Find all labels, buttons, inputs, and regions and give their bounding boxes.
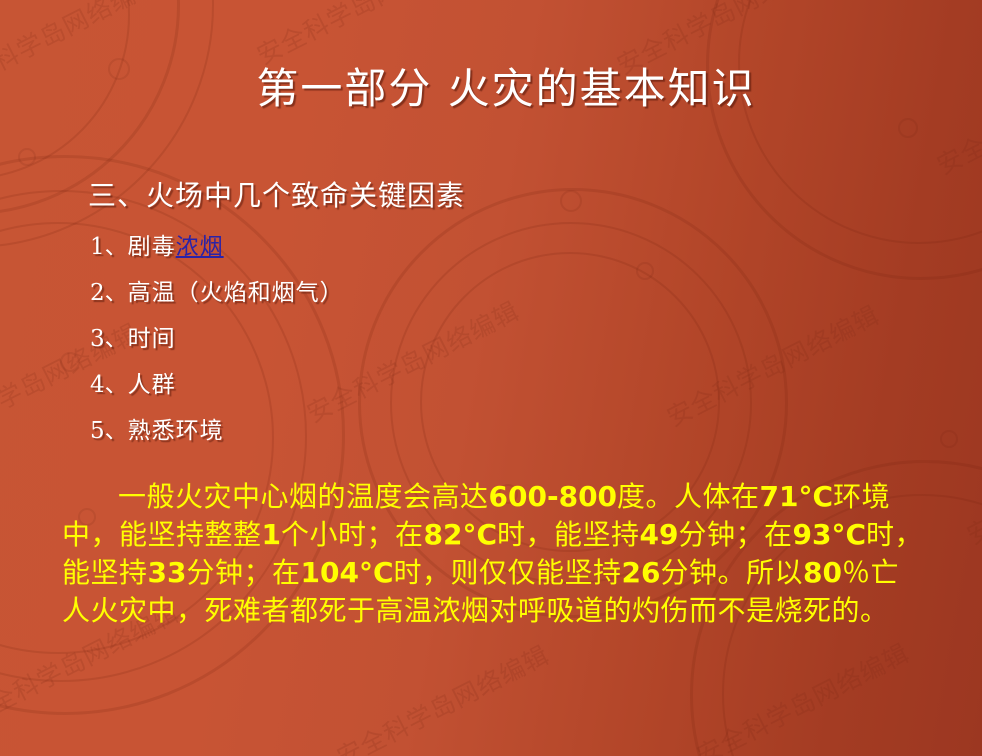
list-item: 2、高温（火焰和烟气） — [90, 270, 344, 316]
watermark-text: 安全科学岛网络编辑 — [330, 636, 555, 756]
list-item-number: 1、 — [90, 234, 128, 260]
list-item-number: 3、 — [90, 326, 128, 352]
list-item: 4、人群 — [90, 362, 344, 408]
body-paragraph: 一般火灾中心烟的温度会高达600-800度。人体在71°C环境中，能坚持整整1个… — [62, 478, 924, 630]
temperature-value: 600-800 — [489, 480, 618, 513]
slide-canvas: 安全科学岛网络编辑 安全科学岛网络编辑 安全科学岛网络编辑 安全科学岛网络编辑 … — [0, 0, 982, 756]
list-item-label: 剧毒 — [128, 234, 176, 260]
body-segment: 时，能坚持 — [497, 518, 640, 551]
section-heading: 三、火场中几个致命关键因素 — [88, 174, 465, 214]
watermark-text: 安全科学岛网络编辑 — [960, 414, 982, 552]
body-segment: 个小时；在 — [281, 518, 424, 551]
body-segment: 一般火灾中心烟的温度会高达 — [118, 480, 489, 513]
ring-arc-icon — [738, 0, 982, 244]
list-item: 5、熟悉环境 — [90, 408, 344, 454]
temperature-value: 71°C — [760, 480, 834, 513]
factor-list: 1、剧毒浓烟 2、高温（火焰和烟气） 3、时间 4、人群 5、熟悉环境 — [90, 224, 344, 454]
circle-dot-icon — [940, 430, 958, 448]
duration-value: 33 — [148, 556, 187, 589]
list-item-number: 4、 — [90, 372, 128, 398]
circle-dot-icon — [560, 190, 582, 212]
circle-dot-icon — [898, 118, 918, 138]
list-item: 1、剧毒浓烟 — [90, 224, 344, 270]
percentage-value: 80 — [803, 556, 842, 589]
list-item-label: 人群 — [128, 372, 176, 398]
duration-value: 1 — [262, 518, 281, 551]
temperature-value: 104°C — [301, 556, 394, 589]
list-item-label: 时间 — [128, 326, 176, 352]
circle-dot-icon — [636, 262, 654, 280]
ring-arc-icon — [706, 0, 982, 280]
list-item-number: 2、 — [90, 280, 128, 306]
body-segment: 分钟。所以 — [660, 556, 803, 589]
temperature-value: 82°C — [424, 518, 498, 551]
body-segment: 分钟；在 — [186, 556, 300, 589]
slide-title: 第一部分 火灾的基本知识 — [0, 55, 982, 116]
list-item-number: 5、 — [90, 418, 128, 444]
body-segment: 分钟；在 — [679, 518, 793, 551]
list-item: 3、时间 — [90, 316, 344, 362]
temperature-value: 93°C — [793, 518, 867, 551]
watermark-text: 安全科学岛网络编辑 — [690, 634, 915, 756]
duration-value: 26 — [622, 556, 661, 589]
body-segment: 度。人体在 — [617, 480, 760, 513]
circle-dot-icon — [18, 148, 36, 166]
list-item-label: 高温（火焰和烟气） — [128, 280, 344, 306]
circle-dot-icon — [60, 352, 80, 372]
body-segment: 时，则仅仅能坚持 — [394, 556, 622, 589]
smoke-hyperlink[interactable]: 浓烟 — [176, 234, 224, 260]
duration-value: 49 — [640, 518, 679, 551]
list-item-label: 熟悉环境 — [128, 418, 224, 444]
watermark-text: 安全科学岛网络编辑 — [660, 296, 885, 434]
